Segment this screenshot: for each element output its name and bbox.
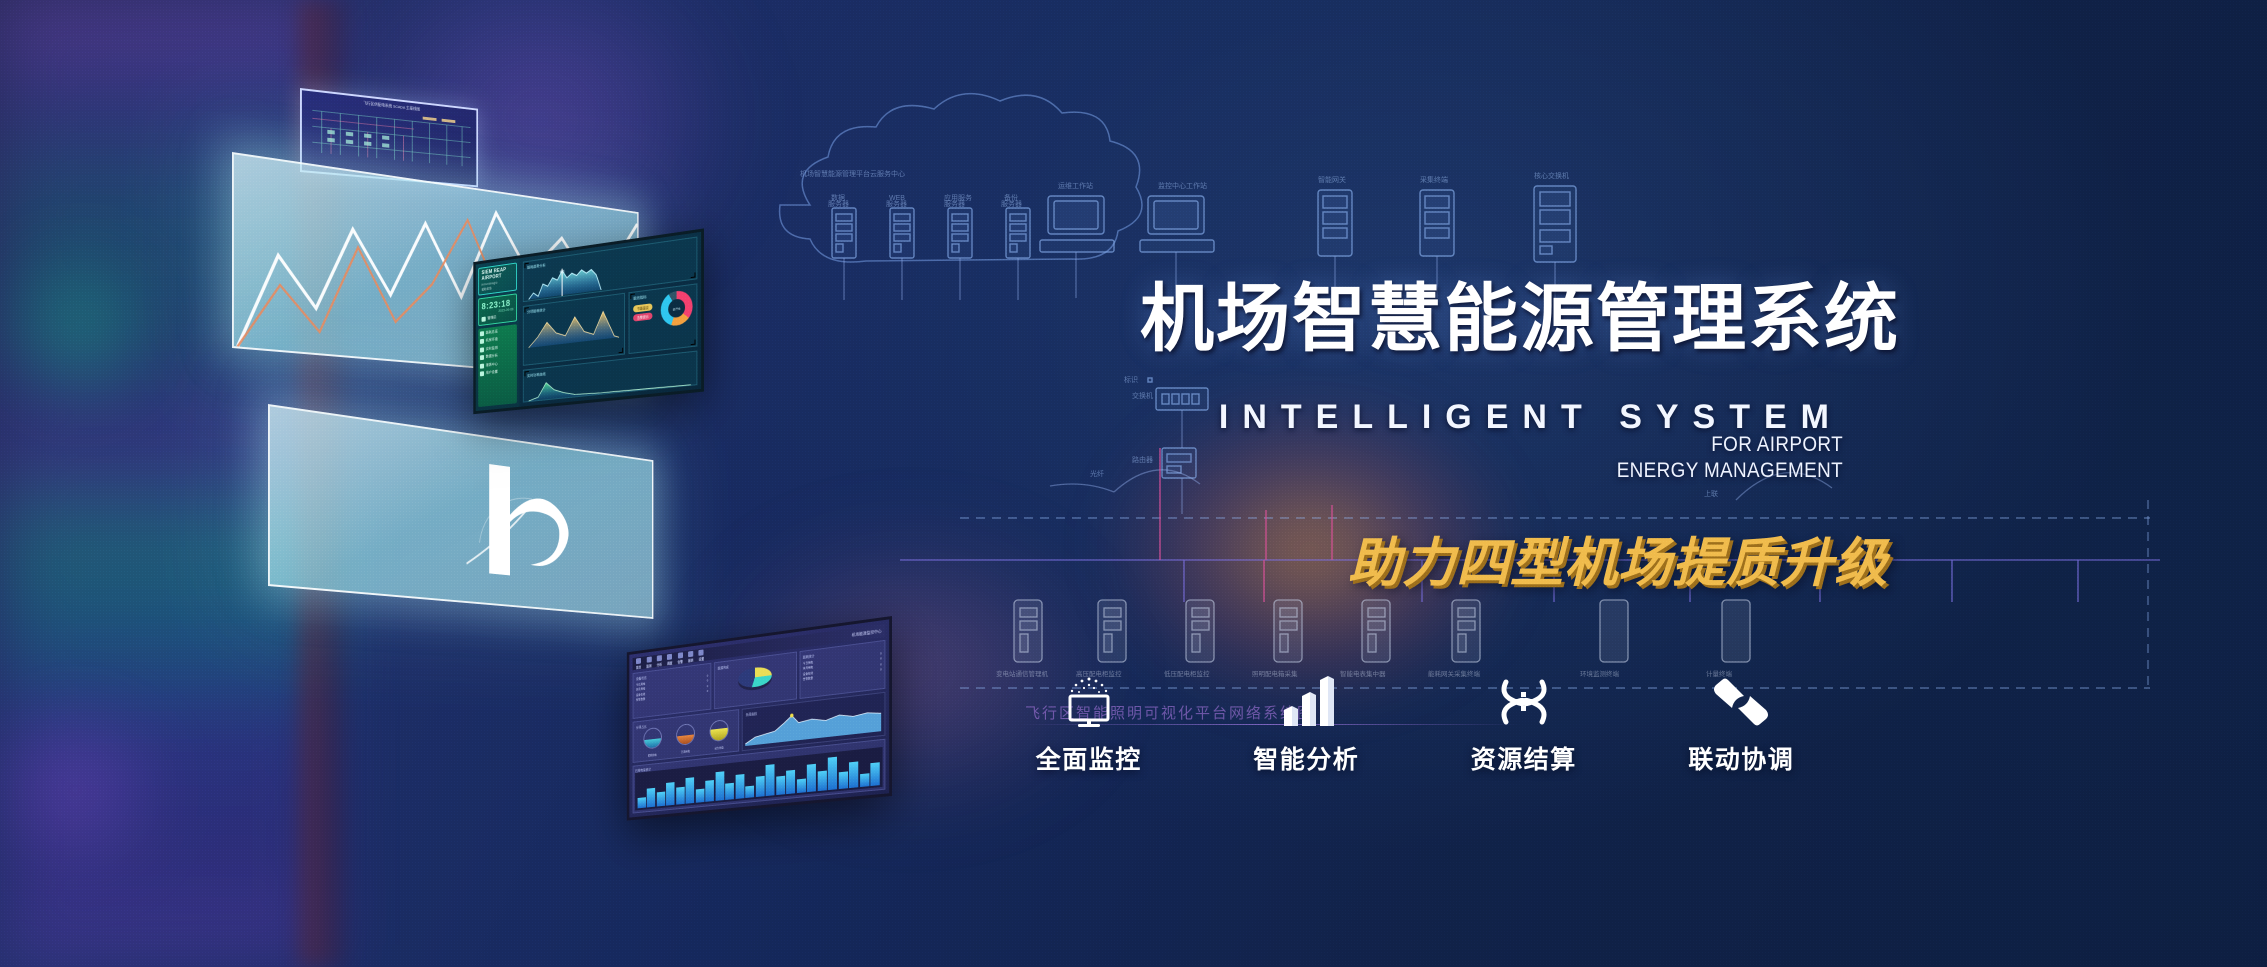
banner-canvas: .ln{fill:none;stroke:#7fa8f0;stroke-widt… [0,0,2267,967]
grain-overlay [0,0,2267,967]
